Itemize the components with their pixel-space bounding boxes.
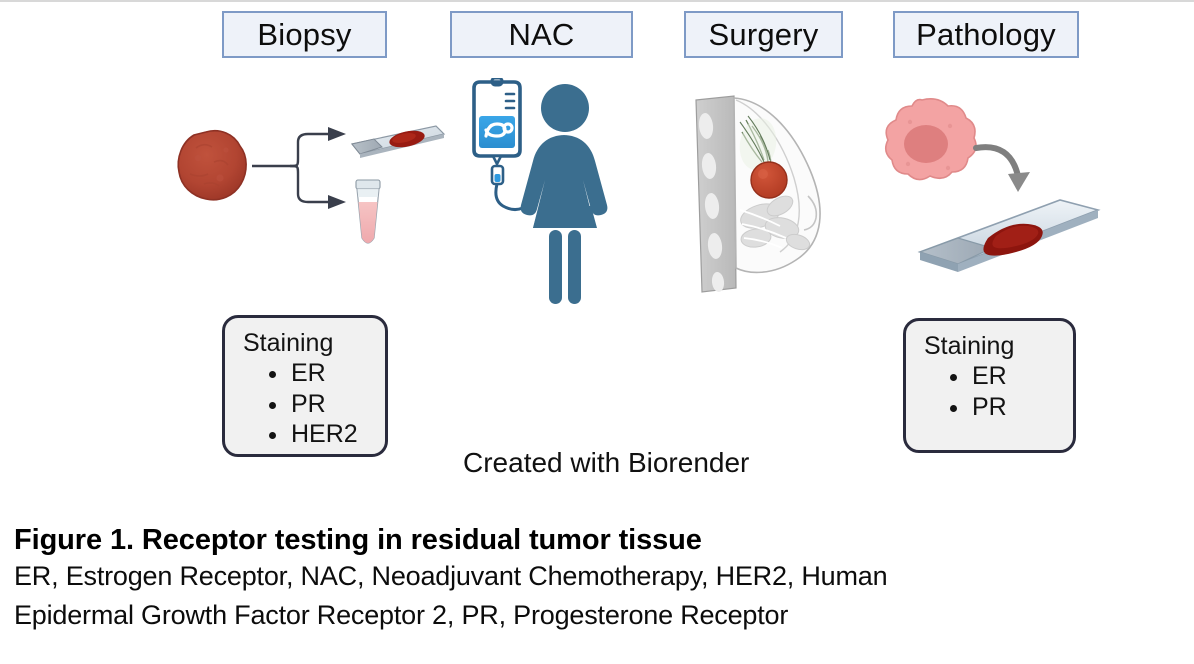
staining-item: PR bbox=[265, 389, 385, 420]
arrowhead-tube-icon bbox=[328, 195, 346, 209]
top-divider bbox=[0, 0, 1194, 2]
stage-label-surgery: Surgery bbox=[709, 19, 819, 50]
specimen-tube-icon bbox=[356, 180, 380, 243]
microscope-slide-icon bbox=[352, 126, 444, 158]
curved-arrow-icon bbox=[976, 147, 1030, 192]
tumor-cell-icon bbox=[886, 99, 976, 180]
tumor-blob-icon bbox=[178, 131, 246, 200]
branching-arrow-icon bbox=[252, 134, 330, 202]
staining-title-pathology: Staining bbox=[924, 333, 1073, 359]
caption-line-1: ER, Estrogen Receptor, NAC, Neoadjuvant … bbox=[14, 557, 1180, 595]
stage-box-surgery: Surgery bbox=[684, 11, 843, 58]
tumor-nodule-icon bbox=[751, 162, 787, 198]
illustration-biopsy bbox=[168, 118, 448, 263]
iv-bag-icon bbox=[474, 78, 520, 164]
caption-title: Figure 1. Receptor testing in residual t… bbox=[14, 523, 1180, 557]
stage-label-nac: NAC bbox=[508, 19, 574, 50]
caption-line-2: Epidermal Growth Factor Receptor 2, PR, … bbox=[14, 596, 1180, 634]
figure-container: Biopsy NAC Surgery Pathology bbox=[0, 0, 1194, 664]
patient-figure-icon bbox=[520, 84, 608, 304]
microscope-slide-icon bbox=[920, 200, 1098, 272]
staining-panel-biopsy: Staining ER PR HER2 bbox=[222, 315, 388, 457]
stage-label-biopsy: Biopsy bbox=[257, 19, 351, 50]
biorender-credit: Created with Biorender bbox=[463, 447, 749, 479]
staining-panel-pathology: Staining ER PR bbox=[903, 318, 1076, 453]
staining-item: ER bbox=[265, 358, 385, 389]
stage-box-nac: NAC bbox=[450, 11, 633, 58]
stage-box-pathology: Pathology bbox=[893, 11, 1079, 58]
illustration-pathology bbox=[880, 92, 1102, 287]
staining-list-pathology: ER PR bbox=[920, 361, 1073, 422]
illustration-surgery bbox=[676, 92, 866, 297]
chest-wall-icon bbox=[696, 96, 736, 293]
staining-title-biopsy: Staining bbox=[243, 330, 385, 356]
staining-list-biopsy: ER PR HER2 bbox=[239, 358, 385, 450]
stage-box-biopsy: Biopsy bbox=[222, 11, 387, 58]
staining-item: ER bbox=[946, 361, 1073, 392]
staining-item: PR bbox=[946, 392, 1073, 423]
illustration-nac bbox=[462, 78, 642, 310]
figure-caption: Figure 1. Receptor testing in residual t… bbox=[14, 523, 1180, 634]
staining-item: HER2 bbox=[265, 419, 385, 450]
arrowhead-slide-icon bbox=[328, 127, 346, 141]
stage-label-pathology: Pathology bbox=[916, 19, 1056, 50]
